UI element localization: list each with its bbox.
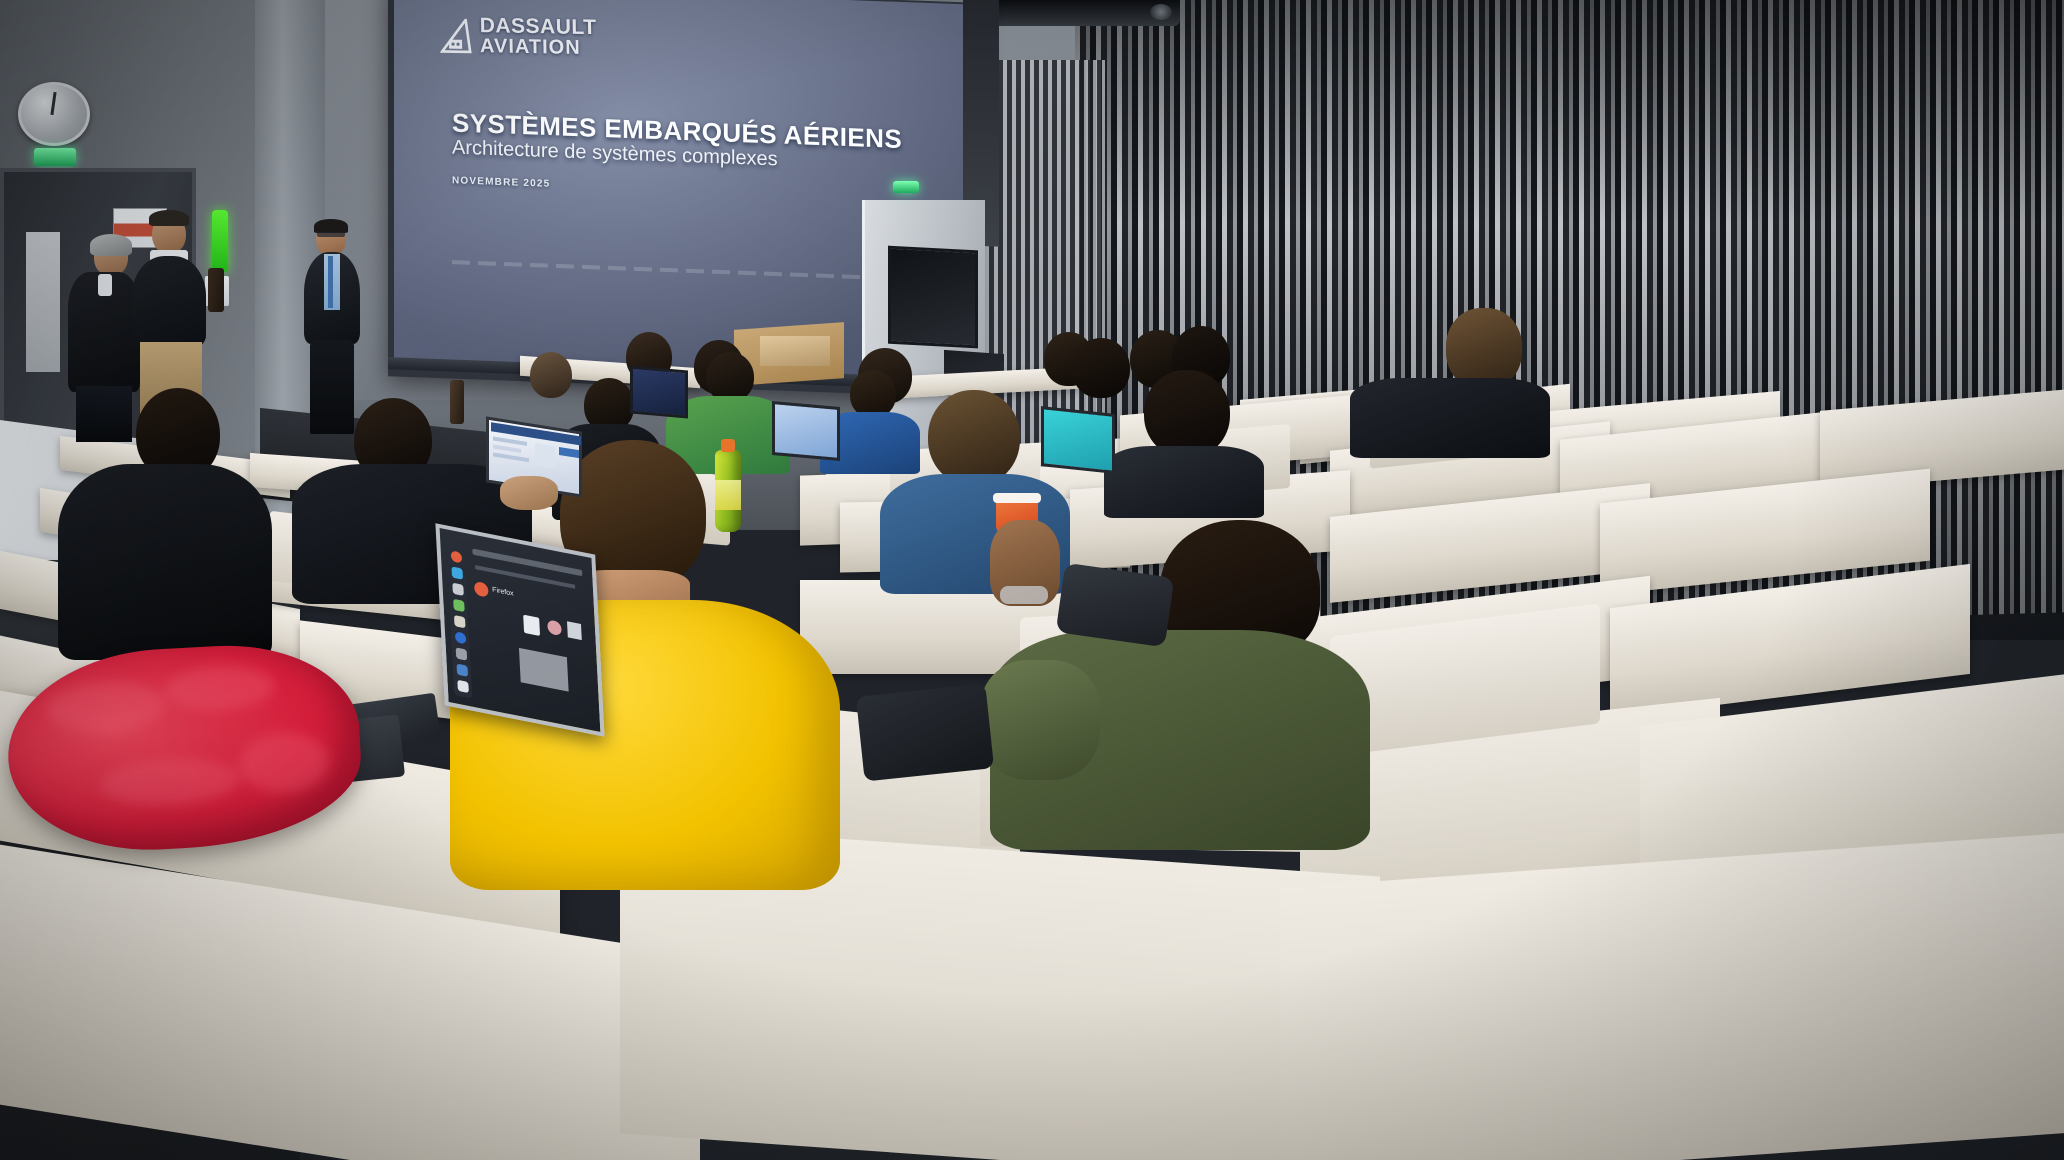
olive-shirt-arm [980,660,1100,780]
green-drink-bottle[interactable] [715,450,741,532]
attendee2-hair [149,210,189,226]
student-right-end [1350,308,1550,453]
app-icon-6[interactable] [456,647,468,660]
dassault-logo: DASSAULT AVIATION [440,14,621,71]
student-left-front [58,388,272,658]
attendee1-hair [90,234,132,256]
presenter-hair [314,219,348,233]
firefox-icon[interactable] [451,550,463,563]
app-icon-2[interactable] [452,583,464,596]
blue-tee-head [928,390,1020,486]
dassault-logo-text: DASSAULT AVIATION [480,15,597,59]
wall-monitor [888,246,978,349]
projector-lens-icon [1150,4,1172,20]
app-icon-4[interactable] [454,615,466,628]
laptop-top-bar [472,549,582,577]
laptop-desktop-icon-1[interactable] [523,615,540,636]
laptop-blue[interactable] [772,401,840,461]
student-curly-head [1144,370,1230,458]
app-icon-8[interactable] [457,680,469,693]
bottle-label [715,480,741,510]
cup-lid [993,493,1041,503]
student-curly [1104,370,1264,510]
desk-row-8-right [1280,832,2064,1160]
attendee1-collar [98,274,112,296]
firefox-desktop-label: Firefox [492,586,514,597]
backpack-1[interactable] [856,683,994,781]
presenter-glasses-icon [317,232,345,237]
laptop-teal[interactable] [1041,406,1115,474]
app-icon-7[interactable] [456,664,468,677]
backpack-2[interactable] [1056,563,1175,648]
presenter-lanyard [328,256,333,308]
hand-on-laptop [500,476,558,510]
dark-bottle[interactable] [450,380,464,424]
attendee2-sweater [132,256,206,346]
laptop-desktop-window[interactable] [519,648,569,692]
bottle-cap [721,439,735,452]
lecture-hall-photo: DASSAULT AVIATION SYSTÈMES EMBARQUÉS AÉR… [0,0,2064,1160]
laptop-firefox[interactable]: Firefox [435,523,604,737]
app-icon-3[interactable] [453,599,465,612]
wall-clock [18,82,90,146]
dassault-delta-logo-icon [440,18,475,59]
wrist-band [1000,586,1048,604]
student-right-end-body [1350,378,1550,458]
app-icon-5[interactable] [455,631,467,644]
bottle-dark-left [208,268,224,312]
student-left-front-body [58,464,272,660]
exit-sign-icon-right [893,181,919,193]
brand-line-2: AVIATION [480,36,597,59]
firefox-desktop-icon[interactable] [474,581,489,598]
laptop-dock[interactable] [446,543,472,698]
laptop-desktop-icon-2[interactable] [547,619,562,636]
laptop-navy[interactable] [630,365,688,418]
green-emergency-button[interactable] [212,210,228,272]
app-icon-1[interactable] [451,566,463,579]
door-left-glass-panel [26,232,60,372]
laptop-desktop-icon-3[interactable] [567,621,582,640]
exit-sign-icon-left [34,148,76,166]
green-hoodie-head [706,352,754,402]
student-curly-body [1104,446,1264,518]
